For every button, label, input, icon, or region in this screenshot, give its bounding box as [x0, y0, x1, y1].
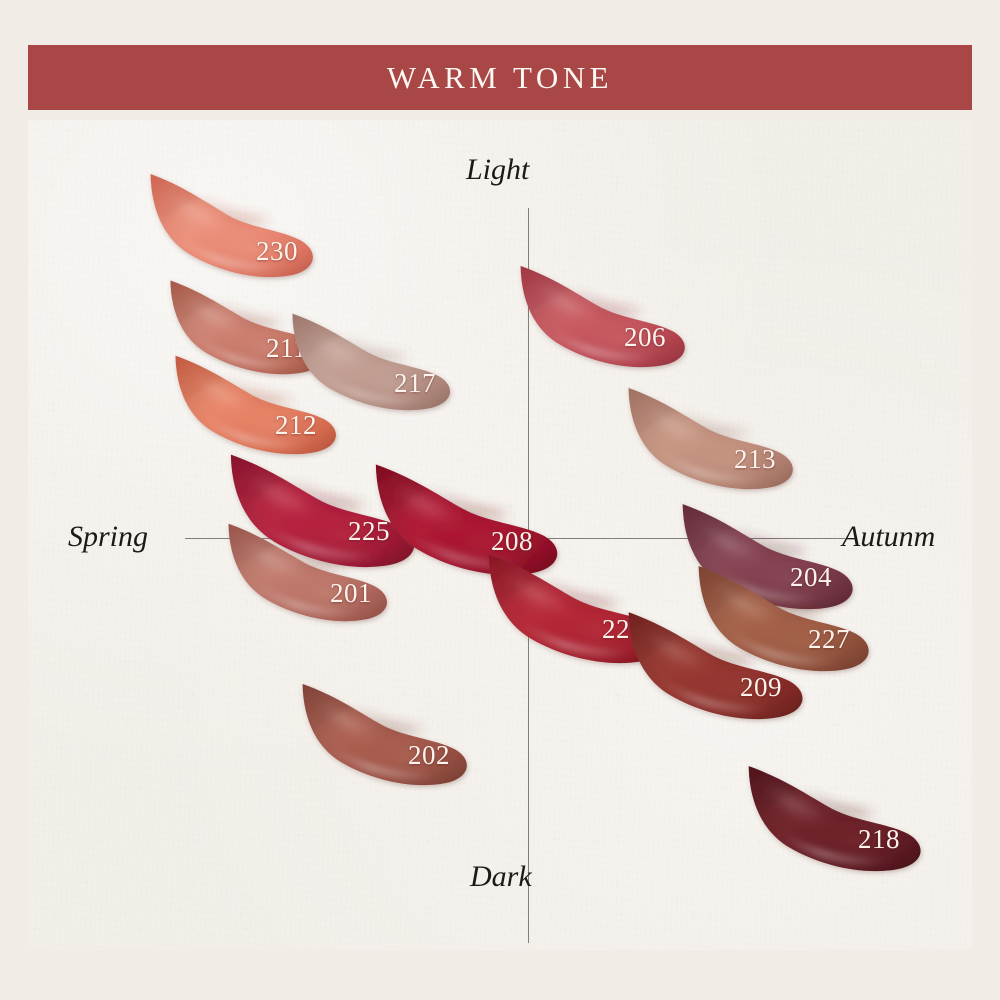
lipstick-swatch-218: 218 [746, 760, 926, 872]
swatch-shape [176, 356, 336, 454]
lipstick-swatch-212: 212 [173, 350, 341, 455]
lipstick-swatch-230: 230 [148, 168, 318, 278]
page-title: WARM TONE [387, 60, 613, 96]
swatch-shape [303, 684, 467, 785]
swatch-shape [749, 766, 921, 871]
lipstick-swatch-202: 202 [300, 678, 472, 786]
lipstick-swatch-213: 213 [626, 382, 798, 490]
lipstick-swatch-209: 209 [626, 606, 808, 720]
swatch-shape [521, 266, 685, 367]
lipstick-swatch-206: 206 [518, 260, 690, 368]
swatch-shape [151, 174, 313, 277]
chart-area: Light Dark Spring Autunm 230211217212206… [28, 120, 972, 950]
lipstick-swatch-201: 201 [226, 518, 392, 622]
swatch-shape [629, 612, 803, 719]
axis-label-dark: Dark [470, 860, 532, 894]
axis-label-light: Light [466, 153, 529, 187]
shade-chart-poster: WARM TONE Light Dark Spring Autunm 23021… [0, 0, 1000, 1000]
swatch-shape [629, 388, 793, 489]
axis-label-spring: Spring [68, 520, 148, 554]
header-banner: WARM TONE [28, 45, 972, 110]
swatch-shape [228, 524, 386, 621]
